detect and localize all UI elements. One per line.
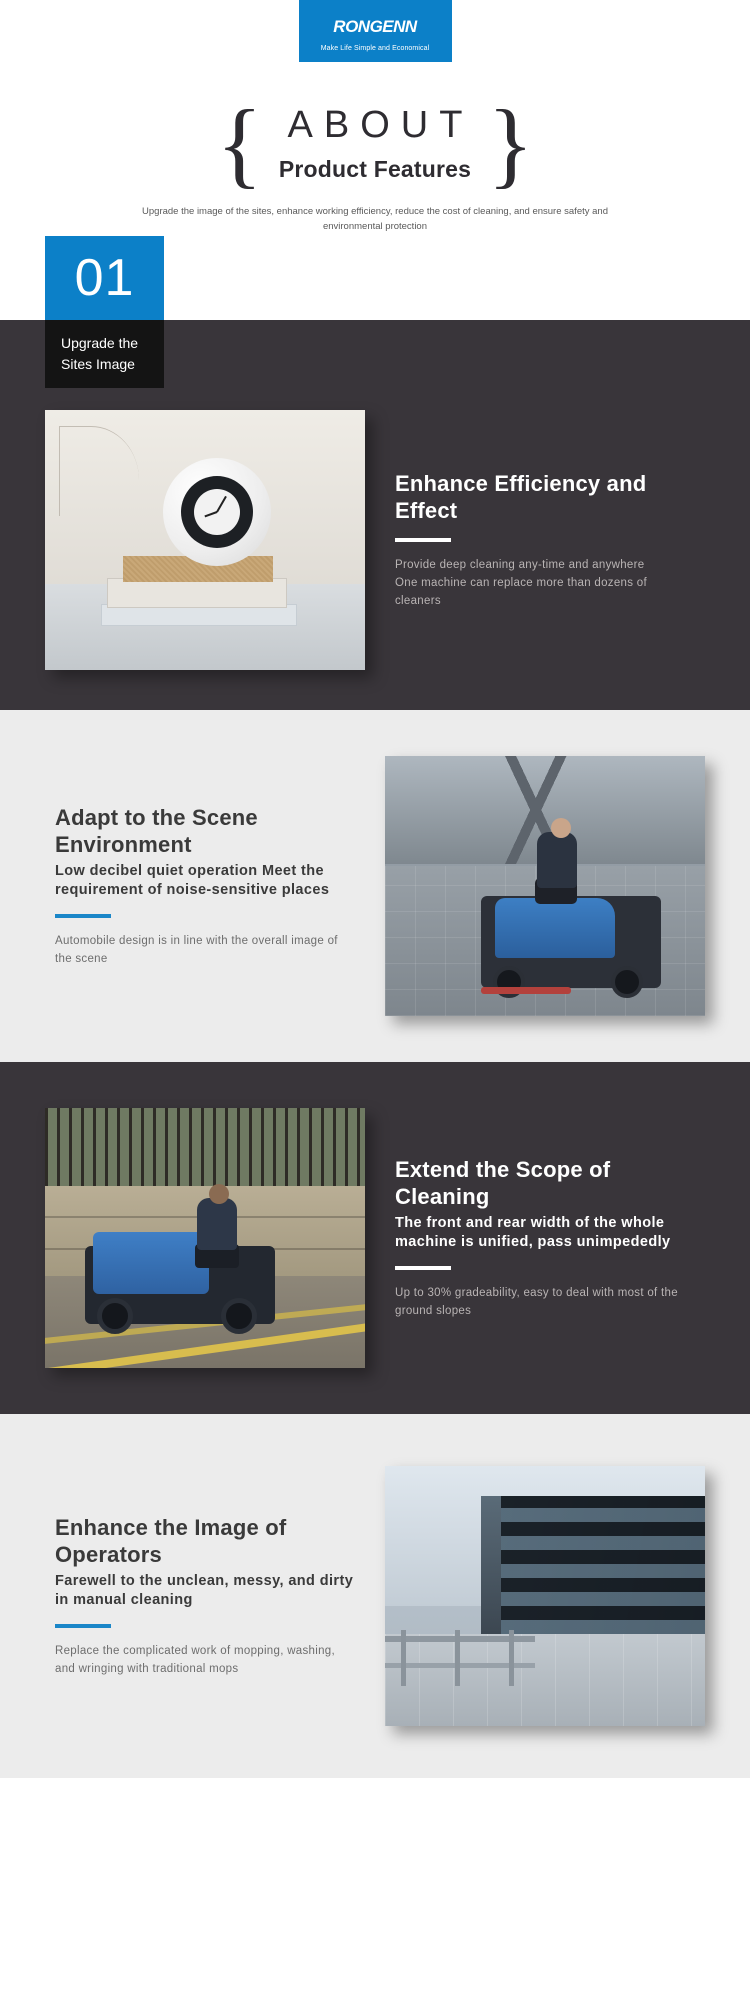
title-stack: ABOUT Product Features	[263, 104, 488, 184]
section-extend-scope: Extend the Scope of Cleaning The front a…	[0, 1062, 750, 1414]
section-3-subheading: The front and rear width of the whole ma…	[395, 1214, 695, 1252]
product-features-subheading: Product Features	[279, 156, 471, 183]
brace-left-icon: {	[216, 104, 262, 184]
photo-wheel-rear	[221, 1298, 257, 1334]
section-number-label: Upgrade the Sites Image	[45, 320, 164, 388]
section-1-text: Enhance Efficiency and Effect Provide de…	[365, 470, 705, 610]
section-4-heading: Enhance the Image of Operators	[55, 1514, 355, 1568]
section-1-divider	[395, 538, 451, 542]
section-4-divider	[55, 1624, 111, 1628]
section-3-image	[45, 1108, 365, 1368]
photo-pavement	[385, 1634, 705, 1726]
photo-wheel-front	[97, 1298, 133, 1334]
section-2-body: Automobile design is in line with the ov…	[55, 932, 355, 968]
section-1-image	[45, 410, 365, 670]
photo-book-upper	[107, 578, 287, 608]
about-product-features-page: RONGENN Make Life Simple and Economical …	[0, 0, 750, 1778]
section-3-text: Extend the Scope of Cleaning The front a…	[365, 1156, 705, 1320]
section-2-content: Adapt to the Scene Environment Low decib…	[0, 756, 750, 1062]
spacer-top-3	[0, 1062, 750, 1108]
section-1-body: Provide deep cleaning any-time and anywh…	[395, 556, 695, 610]
photo-railing-post-1	[401, 1630, 406, 1686]
spacer-top-4	[0, 1414, 750, 1466]
photo-operator-head	[209, 1184, 229, 1204]
header-description: Upgrade the image of the sites, enhance …	[0, 204, 750, 234]
section-2-subheading: Low decibel quiet operation Meet the req…	[55, 862, 355, 900]
about-heading: ABOUT	[277, 105, 474, 147]
photo-scrubber-body	[495, 898, 615, 958]
section-number-badge: 01	[45, 236, 164, 320]
section-2-heading: Adapt to the Scene Environment	[55, 804, 355, 858]
section-4-image	[385, 1466, 705, 1726]
section-3-heading: Extend the Scope of Cleaning	[395, 1156, 695, 1210]
photo-operator-body	[537, 832, 577, 888]
section-2-text: Adapt to the Scene Environment Low decib…	[45, 804, 385, 968]
section-4-body: Replace the complicated work of mopping,…	[55, 1642, 355, 1678]
section-enhance-efficiency: 01 Upgrade the Sites Image Enhance Effic…	[0, 320, 750, 710]
section-1-heading: Enhance Efficiency and Effect	[395, 470, 695, 524]
photo-scrubber-body	[93, 1232, 209, 1294]
photo-glass-building	[495, 1496, 705, 1648]
logo-tagline: Make Life Simple and Economical	[321, 45, 430, 52]
page-title: { ABOUT Product Features }	[0, 104, 750, 184]
logo-wordmark: RONGENN	[333, 18, 416, 35]
photo-building-edge	[481, 1496, 501, 1648]
photo-wheel-rear	[611, 966, 643, 998]
section-2-divider	[55, 914, 111, 918]
section-number-value: 01	[75, 252, 135, 304]
photo-fence	[45, 1108, 365, 1186]
brace-right-icon: }	[487, 104, 533, 184]
section-4-subheading: Farewell to the unclean, messy, and dirt…	[55, 1572, 355, 1610]
photo-railing-post-2	[455, 1630, 460, 1686]
photo-railing-post-3	[509, 1630, 514, 1686]
photo-squeegee	[481, 987, 571, 994]
spacer-top-2	[0, 710, 750, 756]
photo-operator-head	[551, 818, 571, 838]
section-4-text: Enhance the Image of Operators Farewell …	[45, 1514, 385, 1678]
section-2-image	[385, 756, 705, 1016]
section-3-body: Up to 30% gradeability, easy to deal wit…	[395, 1284, 695, 1320]
section-3-content: Extend the Scope of Cleaning The front a…	[0, 1108, 750, 1414]
photo-operator-body	[197, 1198, 237, 1250]
section-3-divider	[395, 1266, 451, 1270]
section-1-content: Enhance Efficiency and Effect Provide de…	[0, 410, 750, 710]
section-4-content: Enhance the Image of Operators Farewell …	[0, 1466, 750, 1778]
brand-logo: RONGENN Make Life Simple and Economical	[299, 0, 452, 62]
section-enhance-operator-image: Enhance the Image of Operators Farewell …	[0, 1414, 750, 1778]
section-adapt-scene: Adapt to the Scene Environment Low decib…	[0, 710, 750, 1062]
